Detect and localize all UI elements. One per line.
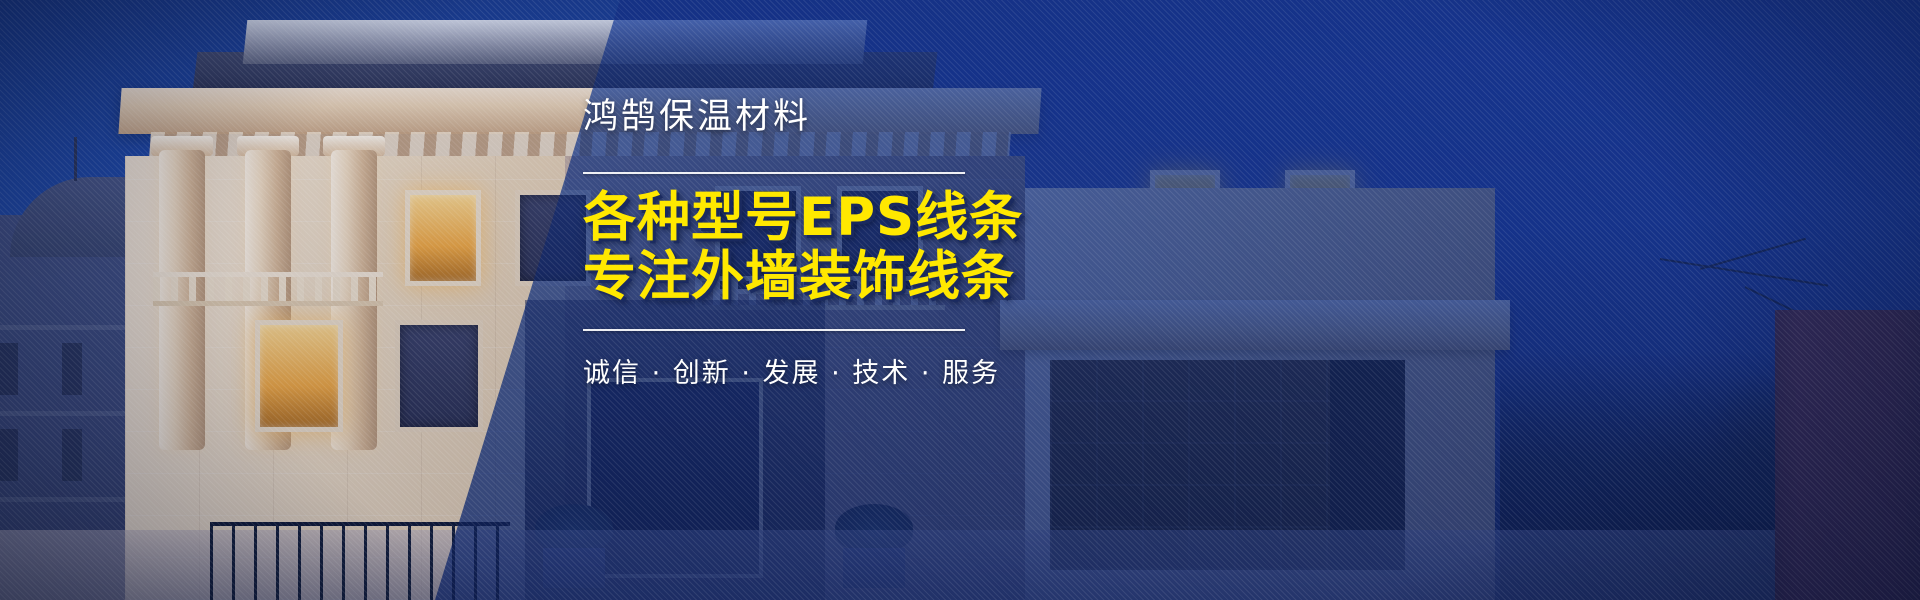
banner-copy: 鸿鹄保温材料 各种型号EPS线条 专注外墙装饰线条 诚信 · 创新 · 发展 ·… — [583, 96, 993, 390]
headline-line-1: 各种型号EPS线条 — [583, 188, 993, 247]
headline-group: 各种型号EPS线条 专注外墙装饰线条 — [583, 188, 993, 307]
divider-bottom — [583, 329, 965, 331]
promo-banner: 鸿鹄保温材料 各种型号EPS线条 专注外墙装饰线条 诚信 · 创新 · 发展 ·… — [0, 0, 1920, 600]
headline-line-2: 专注外墙装饰线条 — [583, 247, 993, 306]
brand-name: 鸿鹄保温材料 — [583, 96, 993, 138]
divider-top — [583, 172, 965, 174]
tagline: 诚信 · 创新 · 发展 · 技术 · 服务 — [583, 351, 993, 390]
